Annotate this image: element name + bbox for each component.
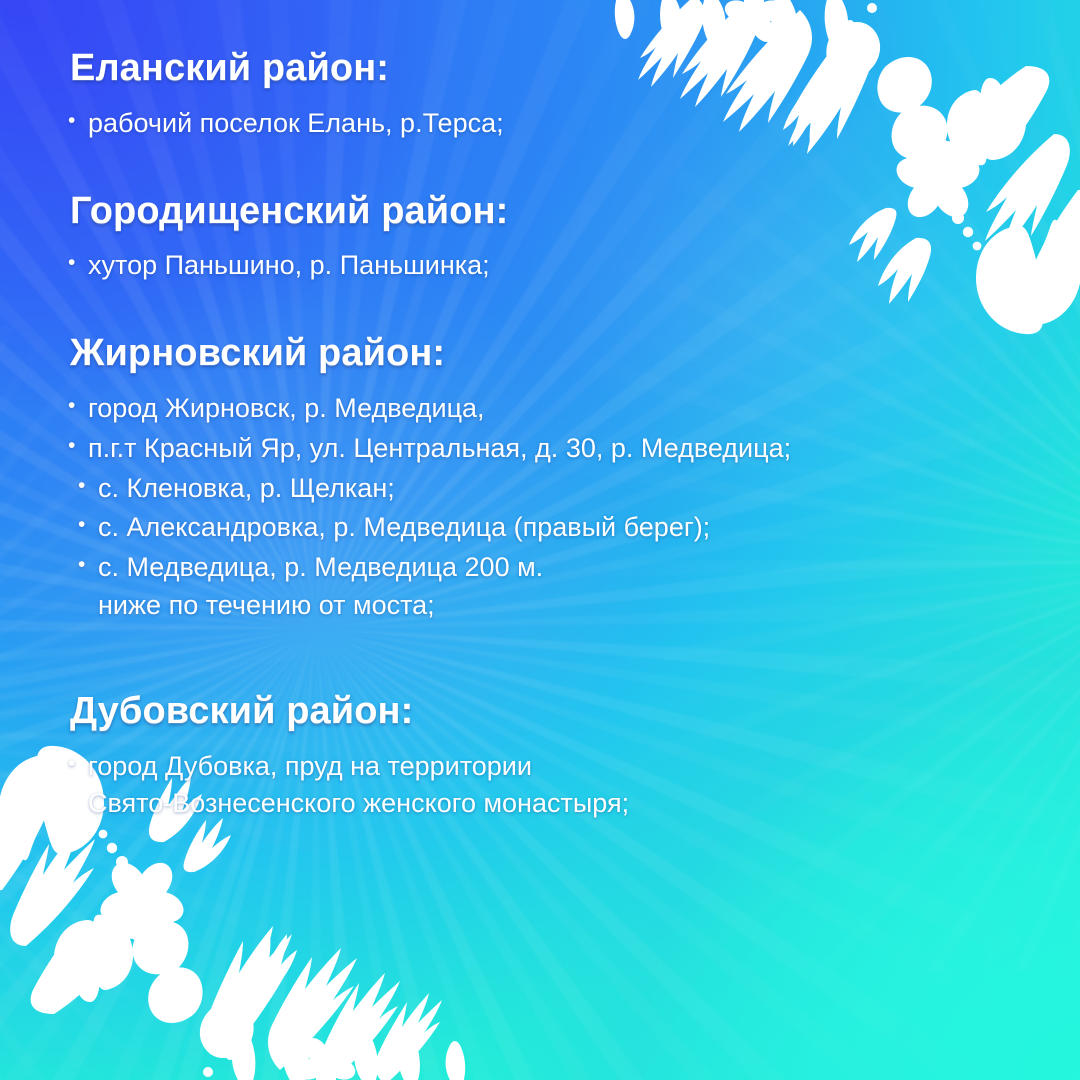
list-item: город Дубовка, пруд на территории Свято-… <box>66 748 1010 824</box>
section-gorodishchenskiy: Городищенский район: хутор Паньшино, р. … <box>66 189 1010 286</box>
bullet-list-zhirnovskiy: город Жирновск, р. Медведица, п.г.т Крас… <box>66 390 1010 625</box>
section-heading-zhirnovskiy: Жирновский район: <box>70 331 1010 376</box>
poster-canvas: Еланский район: рабочий поселок Елань, р… <box>0 0 1080 1080</box>
section-spacer <box>66 149 1010 189</box>
list-item: рабочий поселок Елань, р.Терса; <box>66 105 1010 143</box>
list-item: с. Кленовка, р. Щелкан; <box>66 470 1010 508</box>
section-heading-elanskiy: Еланский район: <box>70 46 1010 91</box>
bullet-list-dubovskiy: город Дубовка, пруд на территории Свято-… <box>66 748 1010 824</box>
bullet-list-elanskiy: рабочий поселок Елань, р.Терса; <box>66 105 1010 143</box>
section-heading-dubovskiy: Дубовский район: <box>70 689 1010 734</box>
list-item: город Жирновск, р. Медведица, <box>66 390 1010 428</box>
list-item: хутор Паньшино, р. Паньшинка; <box>66 247 1010 285</box>
section-heading-gorodishchenskiy: Городищенский район: <box>70 189 1010 234</box>
list-item: с. Медведица, р. Медведица 200 м. ниже п… <box>66 549 1010 625</box>
section-elanskiy: Еланский район: рабочий поселок Елань, р… <box>66 46 1010 143</box>
section-zhirnovskiy: Жирновский район: город Жирновск, р. Мед… <box>66 331 1010 625</box>
bullet-list-gorodishchenskiy: хутор Паньшино, р. Паньшинка; <box>66 247 1010 285</box>
content-column: Еланский район: рабочий поселок Елань, р… <box>66 46 1010 1040</box>
section-dubovskiy: Дубовский район: город Дубовка, пруд на … <box>66 689 1010 823</box>
section-spacer <box>66 631 1010 689</box>
list-item: п.г.т Красный Яр, ул. Центральная, д. 30… <box>66 430 1010 468</box>
section-spacer <box>66 291 1010 331</box>
list-item: с. Александровка, р. Медведица (правый б… <box>66 509 1010 547</box>
